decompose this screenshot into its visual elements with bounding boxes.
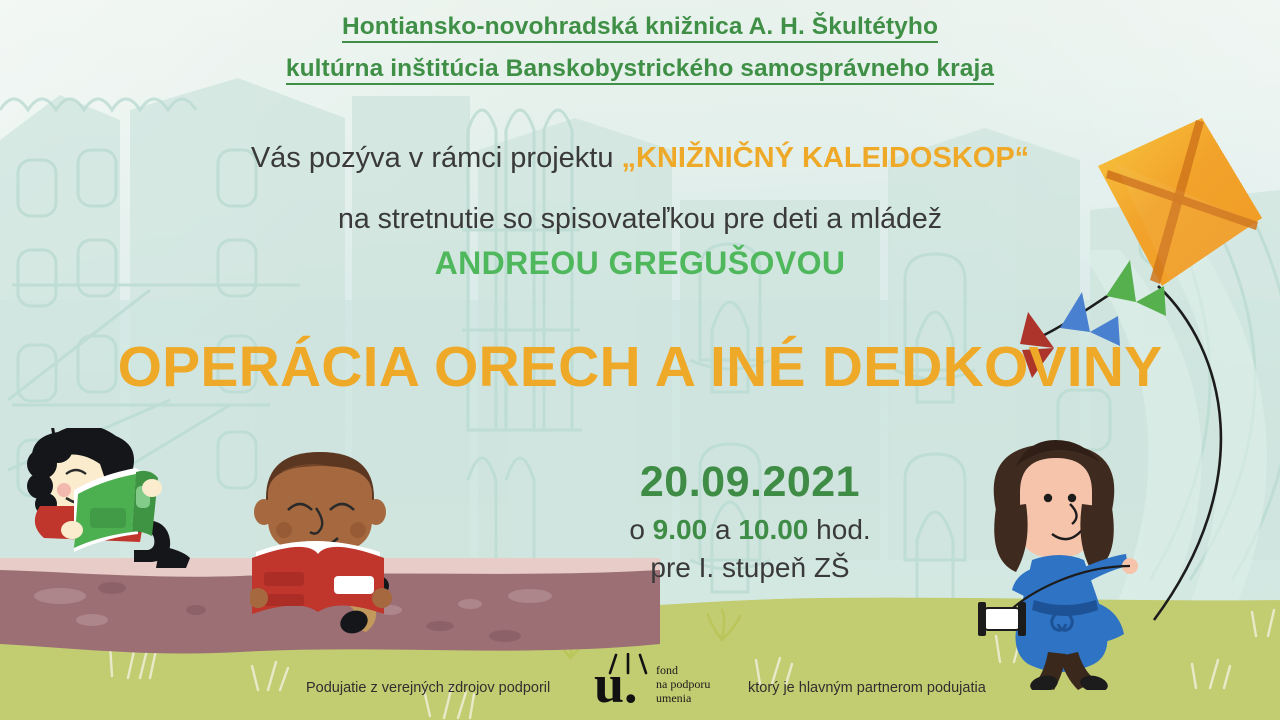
project-close-quote: “ [1015, 142, 1030, 174]
child-reading-red-book [250, 446, 460, 636]
project-open-quote: „ [622, 142, 637, 174]
invitation-line-2: na stretnutie so spisovateľkou pre deti … [0, 203, 1280, 236]
organization-line-1: Hontiansko-novohradská knižnica A. H. Šk… [0, 13, 1280, 43]
footer-partner-text: ktorý je hlavným partnerom podujatia [748, 680, 986, 696]
time-first: 9.00 [653, 514, 708, 545]
time-second: 10.00 [738, 514, 808, 545]
event-times: o 9.00 a 10.00 hod. [520, 514, 980, 546]
poster-canvas: Hontiansko-novohradská knižnica A. H. Šk… [0, 0, 1280, 720]
time-prefix: o [629, 514, 652, 545]
fpu-logo-mark: u. [594, 659, 638, 709]
girl-flying-kite [960, 440, 1180, 690]
fpu-logo-line-1: fond [656, 663, 710, 677]
fpu-logo-line-2: na podporu [656, 677, 710, 691]
author-name: ANDREOU GREGUŠOVOU [0, 245, 1280, 282]
organization-line-1-text: Hontiansko-novohradská knižnica A. H. Šk… [342, 14, 938, 43]
child-reading-green-book [18, 428, 268, 568]
book-title: OPERÁCIA ORECH A INÉ DEDKOVINY [0, 334, 1280, 400]
event-audience: pre I. stupeň ZŠ [520, 552, 980, 584]
invitation-prefix: Vás pozýva v rámci projektu [251, 142, 622, 174]
footer-support-text: Podujatie z verejných zdrojov podporil [306, 680, 550, 696]
project-name: KNIŽNIČNÝ KALEIDOSKOP [636, 142, 1015, 174]
event-date: 20.09.2021 [520, 458, 980, 507]
fpu-logo-line-3: umenia [656, 691, 710, 705]
fpu-logo: u. fond na podporu umenia [586, 655, 736, 713]
organization-line-2-text: kultúrna inštitúcia Banskobystrického sa… [286, 56, 994, 85]
organization-line-2: kultúrna inštitúcia Banskobystrického sa… [0, 55, 1280, 85]
kite-spool [978, 602, 1026, 636]
invitation-line-1: Vás pozýva v rámci projektu „KNIŽNIČNÝ K… [0, 142, 1280, 175]
fpu-logo-words: fond na podporu umenia [656, 663, 710, 705]
time-suffix: hod. [808, 514, 870, 545]
time-separator: a [707, 514, 738, 545]
